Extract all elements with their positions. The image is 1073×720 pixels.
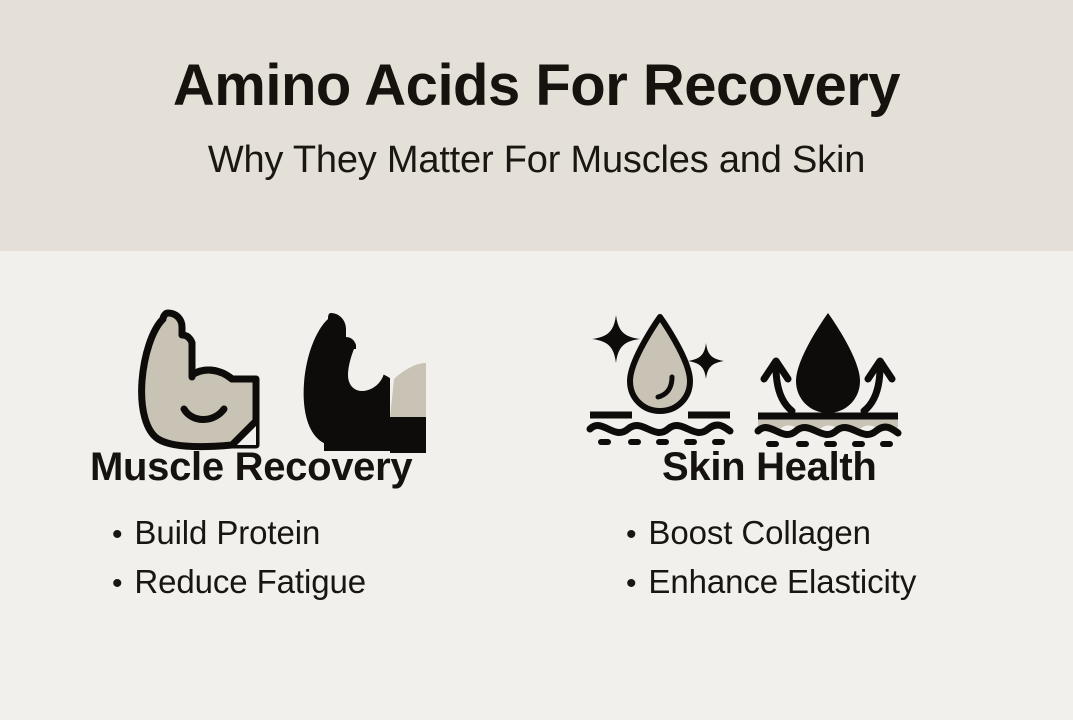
bullet-list-skin-health: • Boost Collagen • Enhance Elasticity xyxy=(626,487,1072,607)
bullet-list-muscle-recovery: • Build Protein • Reduce Fatigue xyxy=(90,487,536,607)
bullet-dot-icon: • xyxy=(626,569,636,599)
list-item-label: Reduce Fatigue xyxy=(134,558,366,607)
list-item: • Build Protein xyxy=(112,509,536,558)
list-item: • Reduce Fatigue xyxy=(112,558,536,607)
infographic-canvas: Amino Acids For Recovery Why They Matter… xyxy=(0,0,1073,720)
list-item-label: Build Protein xyxy=(134,509,320,558)
page-title: Amino Acids For Recovery xyxy=(173,0,900,115)
column-muscle-recovery: Muscle Recovery • Build Protein • Reduce… xyxy=(0,251,536,720)
skin-icon-row xyxy=(584,251,1072,431)
list-item-label: Enhance Elasticity xyxy=(648,558,916,607)
bullet-dot-icon: • xyxy=(626,520,636,550)
moisture-absorption-skin-icon xyxy=(752,305,904,458)
muscle-icon-row xyxy=(90,251,536,431)
bullet-dot-icon: • xyxy=(112,569,122,599)
list-item-label: Boost Collagen xyxy=(648,509,870,558)
list-item: • Boost Collagen xyxy=(626,509,1072,558)
hydration-droplet-sparkle-skin-icon xyxy=(584,305,736,458)
bullet-dot-icon: • xyxy=(112,520,122,550)
list-item: • Enhance Elasticity xyxy=(626,558,1072,607)
flexed-biceps-solid-icon xyxy=(290,305,430,462)
content-columns: Muscle Recovery • Build Protein • Reduce… xyxy=(0,251,1073,720)
column-skin-health: Skin Health • Boost Collagen • Enhance E… xyxy=(536,251,1072,720)
flexed-biceps-outline-icon xyxy=(128,305,268,462)
page-subtitle: Why They Matter For Muscles and Skin xyxy=(208,115,865,179)
header-band: Amino Acids For Recovery Why They Matter… xyxy=(0,0,1073,251)
